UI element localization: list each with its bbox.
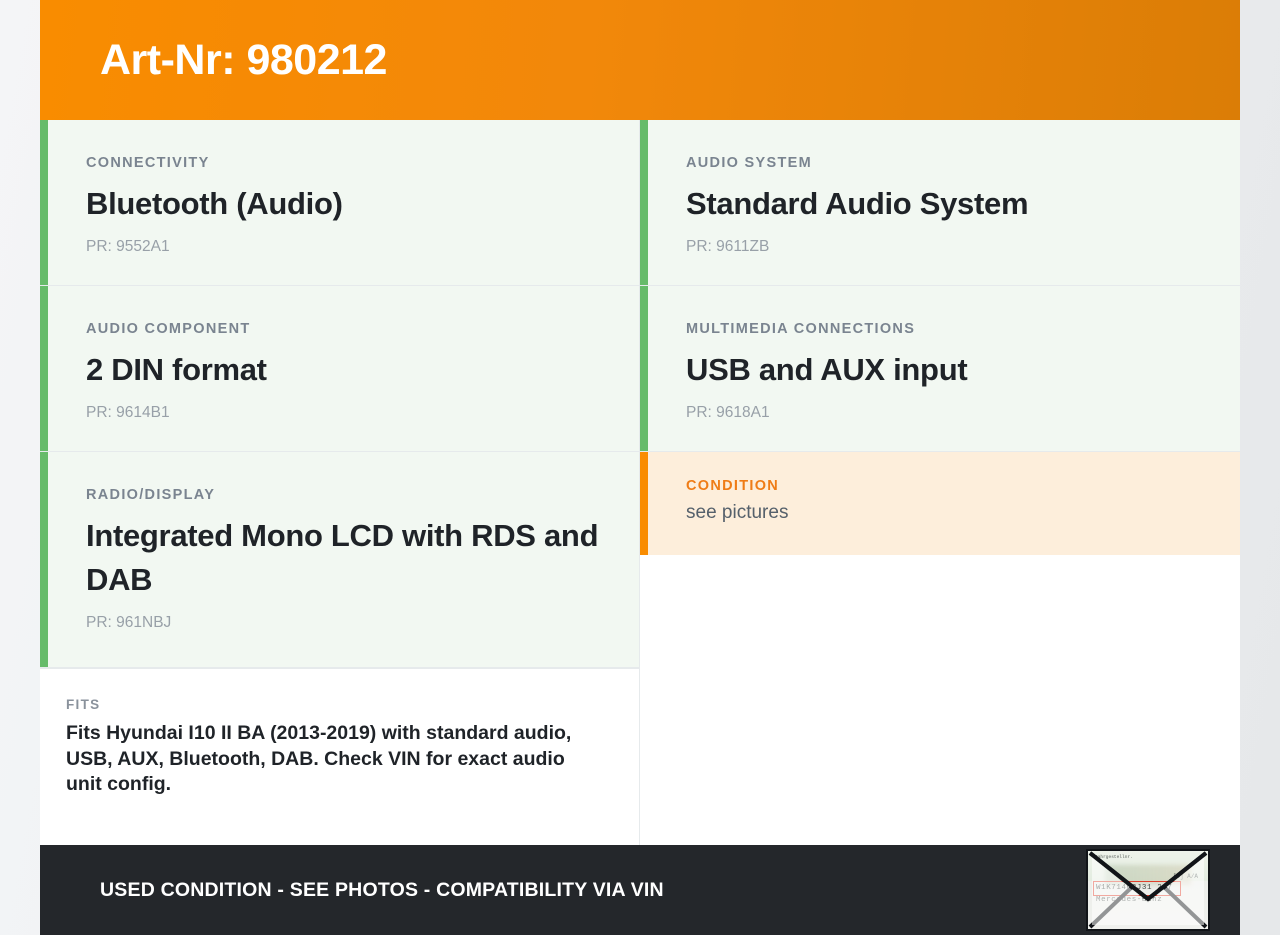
condition-label: CONDITION — [686, 479, 1200, 495]
spec-pr-code: PR: 9618A1 — [686, 404, 1200, 421]
spec-label: AUDIO SYSTEM — [686, 156, 1200, 172]
spec-value: Bluetooth (Audio) — [86, 182, 599, 226]
vehicle-registration-thumbnail[interactable]: Fahrgestellnr. [4] A/A W1K71463J31 2 7 M… — [1086, 849, 1210, 931]
page-title: Art-Nr: 980212 — [100, 39, 387, 82]
spec-pr-code: PR: 9611ZB — [686, 238, 1200, 255]
spec-card-connectivity: CONNECTIVITY Bluetooth (Audio) PR: 9552A… — [40, 120, 639, 286]
spec-pr-code: PR: 961NBJ — [86, 614, 599, 631]
spec-column-left: CONNECTIVITY Bluetooth (Audio) PR: 9552A… — [40, 120, 640, 845]
spec-column-right: AUDIO SYSTEM Standard Audio System PR: 9… — [640, 120, 1240, 845]
spec-value: 2 DIN format — [86, 348, 599, 392]
envelope-icon — [1088, 851, 1208, 929]
header-bar: Art-Nr: 980212 — [40, 0, 1240, 120]
fits-description: Fits Hyundai I10 II BA (2013-2019) with … — [66, 721, 599, 798]
spec-label: MULTIMEDIA CONNECTIONS — [686, 322, 1200, 338]
spec-grid: CONNECTIVITY Bluetooth (Audio) PR: 9552A… — [40, 120, 1240, 845]
spec-value: Integrated Mono LCD with RDS and DAB — [86, 514, 599, 602]
spec-pr-code: PR: 9614B1 — [86, 404, 599, 421]
fits-label: FITS — [66, 697, 599, 712]
spec-value: USB and AUX input — [686, 348, 1200, 392]
spec-pr-code: PR: 9552A1 — [86, 238, 599, 255]
right-column-filler — [640, 555, 1240, 845]
spec-label: AUDIO COMPONENT — [86, 322, 599, 338]
fits-section: FITS Fits Hyundai I10 II BA (2013-2019) … — [40, 668, 639, 824]
product-spec-sheet: Art-Nr: 980212 CONNECTIVITY Bluetooth (A… — [40, 0, 1240, 935]
footer-notice: USED CONDITION - SEE PHOTOS - COMPATIBIL… — [100, 879, 664, 902]
footer-bar: USED CONDITION - SEE PHOTOS - COMPATIBIL… — [40, 845, 1240, 935]
condition-value: see pictures — [686, 502, 1200, 525]
spec-label: RADIO/DISPLAY — [86, 488, 599, 504]
spec-card-audio-system: AUDIO SYSTEM Standard Audio System PR: 9… — [640, 120, 1240, 286]
spec-value: Standard Audio System — [686, 182, 1200, 226]
spec-label: CONNECTIVITY — [86, 156, 599, 172]
spec-card-audio-component: AUDIO COMPONENT 2 DIN format PR: 9614B1 — [40, 286, 639, 452]
spec-card-radio-display: RADIO/DISPLAY Integrated Mono LCD with R… — [40, 452, 639, 668]
spec-card-condition: CONDITION see pictures — [640, 452, 1240, 555]
spec-card-multimedia-connections: MULTIMEDIA CONNECTIONS USB and AUX input… — [640, 286, 1240, 452]
